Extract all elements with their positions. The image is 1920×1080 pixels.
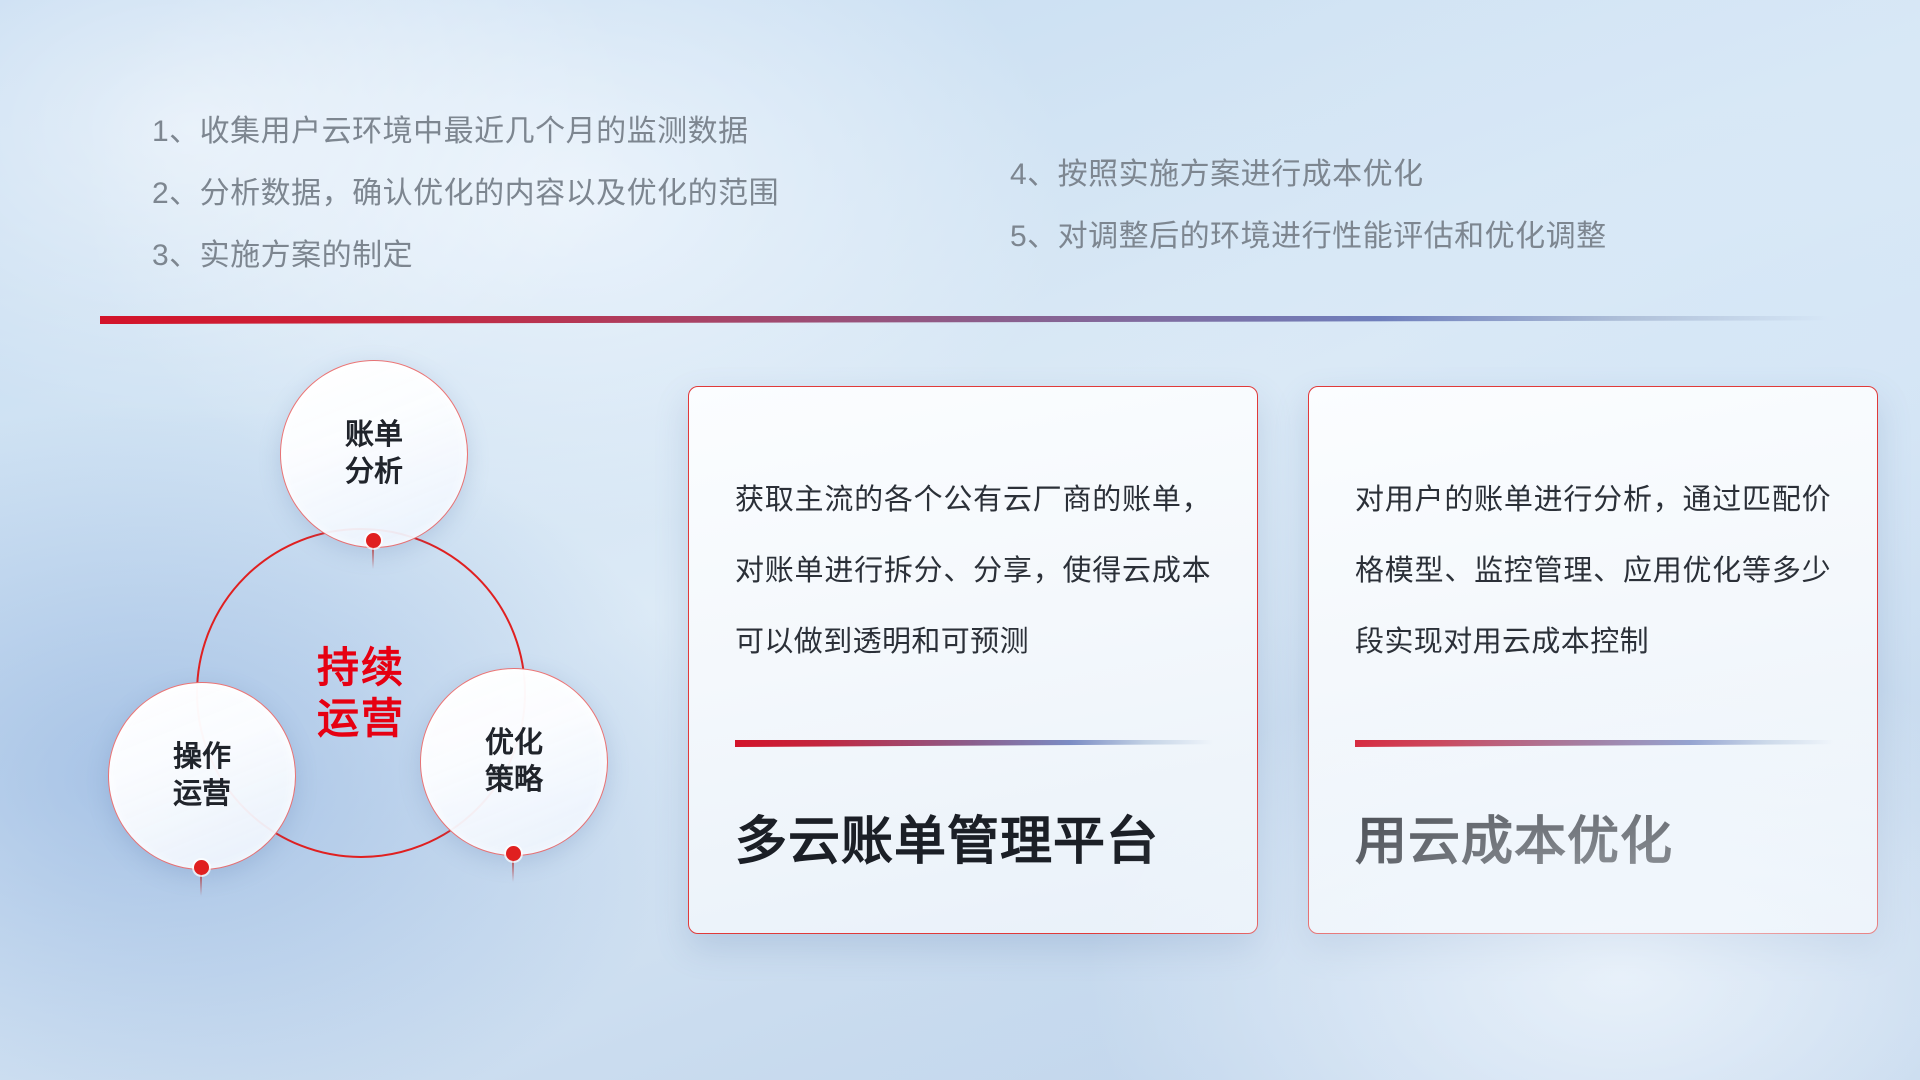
feature-card-cost-optimization[interactable]: 对用户的账单进行分析，通过匹配价格模型、监控管理、应用优化等多少段实现对用云成本… [1308, 386, 1878, 934]
cycle-node-tail [200, 874, 202, 896]
section-divider-rule [100, 316, 1830, 324]
cycle-node-dot [366, 533, 381, 548]
feature-card-multicloud-billing[interactable]: 获取主流的各个公有云厂商的账单，对账单进行拆分、分享，使得云成本可以做到透明和可… [688, 386, 1258, 934]
cycle-node-label-line-1: 账单 [345, 417, 403, 454]
divider-bar [100, 316, 1830, 324]
feature-card-title: 多云账单管理平台 [735, 814, 1159, 871]
feature-card-rule [1355, 740, 1833, 747]
steps-right-column: 4、按照实施方案进行成本优化 5、对调整后的环境进行性能评估和优化调整 [1010, 160, 1607, 252]
feature-card-body: 获取主流的各个公有云厂商的账单，对账单进行拆分、分享，使得云成本可以做到透明和可… [735, 465, 1211, 678]
cycle-node-optimization-strategy[interactable]: 优化 策略 [420, 668, 608, 856]
cycle-node-billing-analysis[interactable]: 账单 分析 [280, 360, 468, 548]
cycle-node-label-line-1: 操作 [173, 739, 231, 776]
step-item: 4、按照实施方案进行成本优化 [1010, 160, 1607, 190]
cycle-diagram: 持续 运营 账单 分析 操作 运营 优化 策略 [100, 350, 660, 950]
cycle-center-line-2: 运营 [317, 693, 405, 744]
cycle-node-label-line-2: 分析 [345, 454, 403, 491]
cycle-center-line-1: 持续 [317, 642, 405, 693]
steps-left-column: 1、收集用户云环境中最近几个月的监测数据 2、分析数据，确认优化的内容以及优化的… [152, 117, 779, 271]
cycle-node-operations[interactable]: 操作 运营 [108, 682, 296, 870]
feature-card-title: 用云成本优化 [1355, 814, 1673, 871]
cycle-node-tail [372, 547, 374, 569]
cycle-node-tail [512, 860, 514, 882]
cycle-node-dot [506, 846, 521, 861]
feature-card-body: 对用户的账单进行分析，通过匹配价格模型、监控管理、应用优化等多少段实现对用云成本… [1355, 465, 1831, 678]
feature-card-rule [735, 740, 1213, 747]
cycle-node-dot [194, 860, 209, 875]
step-item: 3、实施方案的制定 [152, 241, 779, 271]
step-item: 2、分析数据，确认优化的内容以及优化的范围 [152, 179, 779, 209]
step-item: 1、收集用户云环境中最近几个月的监测数据 [152, 117, 779, 147]
cycle-node-label-line-1: 优化 [485, 725, 543, 762]
cycle-node-label-line-2: 策略 [485, 762, 543, 799]
step-item: 5、对调整后的环境进行性能评估和优化调整 [1010, 222, 1607, 252]
cycle-node-label-line-2: 运营 [173, 776, 231, 813]
slide-canvas: 1、收集用户云环境中最近几个月的监测数据 2、分析数据，确认优化的内容以及优化的… [0, 0, 1920, 1080]
